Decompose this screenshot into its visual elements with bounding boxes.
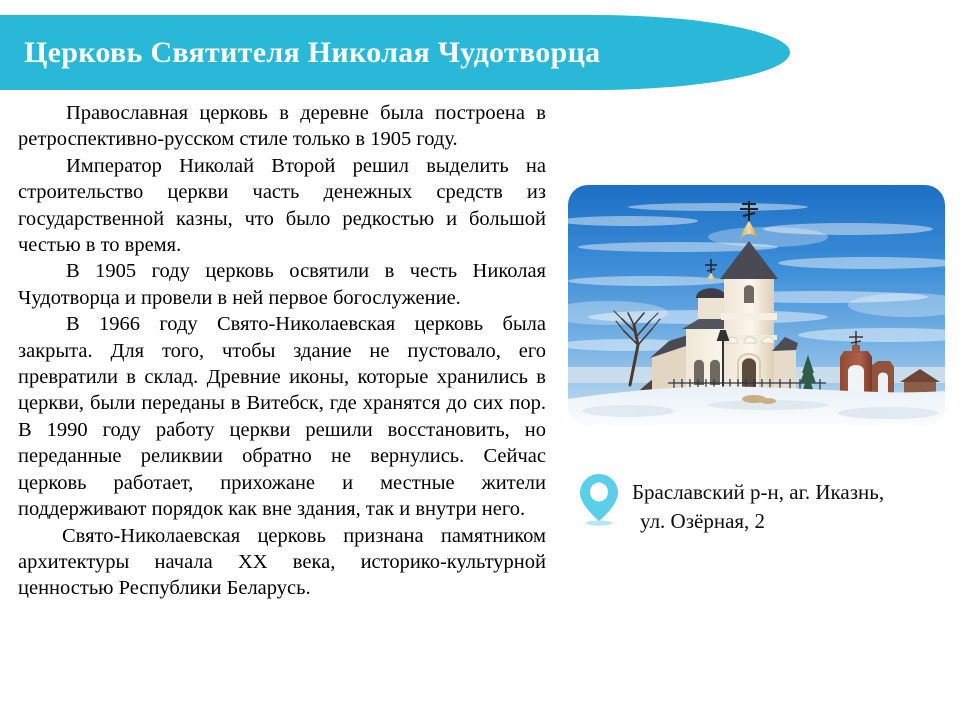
map-pin-icon: [576, 472, 622, 528]
body-text-column: Православная церковь в деревне была пост…: [18, 100, 546, 602]
paragraph-4: В 1966 году Свято-Николаевская церковь б…: [18, 311, 546, 522]
paragraph-1: Православная церковь в деревне была пост…: [18, 100, 546, 153]
paragraph-3: В 1905 году церковь освятили в честь Ник…: [18, 258, 546, 311]
title-banner: Церковь Святителя Николая Чудотворца: [0, 15, 790, 90]
address-line-2: ул. Озёрная, 2: [632, 507, 884, 536]
paragraph-5: Свято-Николаевская церковь признана памя…: [18, 523, 546, 602]
address-block: Браславский р-н, аг. Иказнь, ул. Озёрная…: [576, 470, 946, 536]
address-line-1: Браславский р-н, аг. Иказнь,: [632, 478, 884, 507]
church-photo: [568, 185, 945, 425]
page-title: Церковь Святителя Николая Чудотворца: [0, 38, 600, 68]
church-photo-image: [568, 185, 945, 425]
address-text: Браславский р-н, аг. Иказнь, ул. Озёрная…: [632, 470, 884, 536]
slide-canvas: Церковь Святителя Николая Чудотворца Пра…: [0, 0, 960, 720]
paragraph-2: Император Николай Второй решил выделить …: [18, 153, 546, 259]
